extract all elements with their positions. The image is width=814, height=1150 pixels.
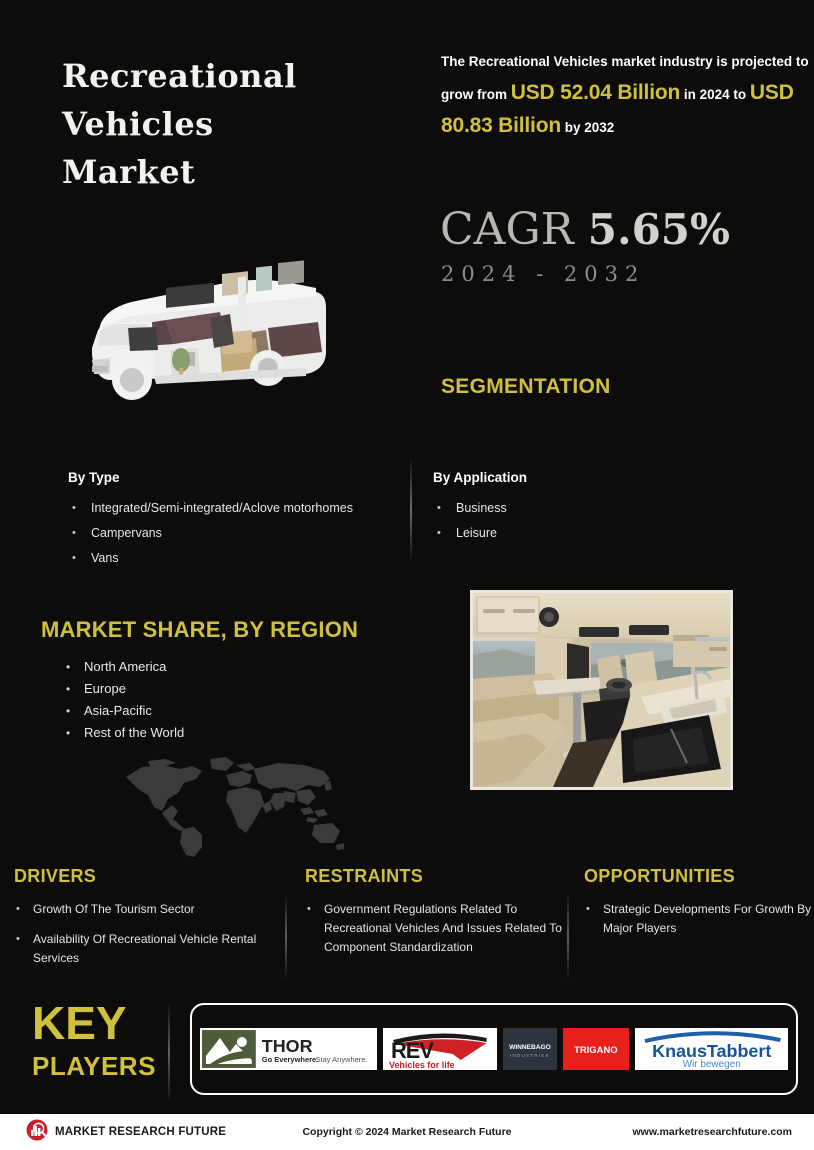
market-share-title: MARKET SHARE, BY REGION (41, 617, 358, 643)
blurb-part-1: The Recreational Vehicles market industr… (441, 54, 792, 69)
key-players-line-2: PLAYERS (32, 1050, 172, 1082)
segment-column-by-application: By Application Business Leisure (433, 470, 693, 546)
segment-list-type: Integrated/Semi-integrated/Aclove motorh… (68, 496, 398, 571)
cagr-value: 5.65% (588, 205, 730, 254)
rv-interior-photo (470, 590, 733, 790)
market-summary-blurb: The Recreational Vehicles market industr… (441, 46, 809, 143)
segment-column-by-type: By Type Integrated/Semi-integrated/Aclov… (68, 470, 398, 571)
logo-winnebago: WINNEBAGO INDUSTRIES (503, 1028, 557, 1070)
restraints-column: RESTRAINTS Government Regulations Relate… (305, 866, 570, 968)
logo-trigano: TRIGANO (563, 1028, 629, 1070)
svg-text:Go Everywhere.: Go Everywhere. (262, 1055, 318, 1064)
list-item: North America (62, 656, 184, 678)
key-players-divider (168, 1005, 170, 1100)
list-item: Rest of the World (62, 722, 184, 744)
blurb-part-3: in 2024 (684, 87, 730, 102)
svg-text:TRIGANO: TRIGANO (574, 1045, 618, 1056)
opportunities-column: OPPORTUNITIES Strategic Developments For… (584, 866, 812, 949)
segment-heading-application: By Application (433, 470, 693, 485)
restraints-heading: RESTRAINTS (305, 866, 570, 887)
world-map-icon (118, 755, 348, 860)
list-item: Europe (62, 678, 184, 700)
cagr-period: 2024 - 2032 (441, 262, 645, 286)
opportunities-list: Strategic Developments For Growth By Maj… (584, 900, 812, 938)
list-item: Strategic Developments For Growth By Maj… (584, 900, 812, 938)
segment-list-application: Business Leisure (433, 496, 693, 546)
drivers-restraints-divider (285, 896, 287, 978)
segmentation-title: SEGMENTATION (441, 375, 611, 399)
key-players-logo-box: THOR Go Everywhere. Stay Anywhere. REV V… (190, 1003, 798, 1095)
list-item: Campervans (68, 521, 398, 546)
title-line-2: Vehicles (62, 100, 392, 148)
svg-text:WINNEBAGO: WINNEBAGO (509, 1044, 551, 1051)
segment-heading-type: By Type (68, 470, 398, 485)
list-item: Growth Of The Tourism Sector (14, 900, 289, 919)
rv-cutaway-illustration (70, 240, 350, 420)
logo-rev: REV Vehicles for life (383, 1028, 497, 1070)
title-line-3: Market (62, 148, 392, 196)
drivers-heading: DRIVERS (14, 866, 289, 887)
infographic-page: Recreational Vehicles Market The Recreat… (0, 0, 814, 1150)
footer: MARKET RESEARCH FUTURE Copyright © 2024 … (0, 1114, 814, 1150)
svg-text:Stay Anywhere.: Stay Anywhere. (316, 1055, 368, 1064)
restraints-opportunities-divider (567, 896, 569, 978)
segment-divider (410, 460, 412, 560)
blurb-part-5: by 2032 (565, 120, 615, 135)
list-item: Business (433, 496, 693, 521)
svg-text:INDUSTRIES: INDUSTRIES (510, 1053, 550, 1058)
list-item: Asia-Pacific (62, 700, 184, 722)
title-line-1: Recreational (62, 52, 392, 100)
svg-text:THOR: THOR (262, 1036, 313, 1056)
drivers-list: Growth Of The Tourism Sector Availabilit… (14, 900, 289, 968)
footer-url[interactable]: www.marketresearchfuture.com (632, 1114, 792, 1150)
logo-knaus-tabbert: KnausTabbert Wir bewegen (635, 1028, 788, 1070)
restraints-list: Government Regulations Related To Recrea… (305, 900, 570, 957)
list-item: Availability Of Recreational Vehicle Ren… (14, 930, 289, 968)
svg-text:Vehicles for life: Vehicles for life (389, 1060, 455, 1070)
drivers-column: DRIVERS Growth Of The Tourism Sector Ava… (14, 866, 289, 979)
key-players-line-1: KEY (32, 1000, 172, 1046)
cagr-label: CAGR (440, 204, 574, 255)
value-2024: USD 52.04 Billion (511, 81, 680, 104)
list-item: Government Regulations Related To Recrea… (305, 900, 570, 957)
opportunities-heading: OPPORTUNITIES (584, 866, 812, 887)
key-players-label: KEY PLAYERS (32, 1000, 172, 1082)
region-list: North America Europe Asia-Pacific Rest o… (62, 656, 184, 744)
list-item: Vans (68, 546, 398, 571)
page-title: Recreational Vehicles Market (62, 52, 392, 196)
svg-text:Wir bewegen: Wir bewegen (682, 1059, 740, 1070)
blurb-part-4: to (733, 87, 746, 102)
logo-thor: THOR Go Everywhere. Stay Anywhere. (200, 1028, 377, 1070)
cagr-block: CAGR 5.65% (440, 205, 730, 255)
list-item: Leisure (433, 521, 693, 546)
list-item: Integrated/Semi-integrated/Aclove motorh… (68, 496, 398, 521)
